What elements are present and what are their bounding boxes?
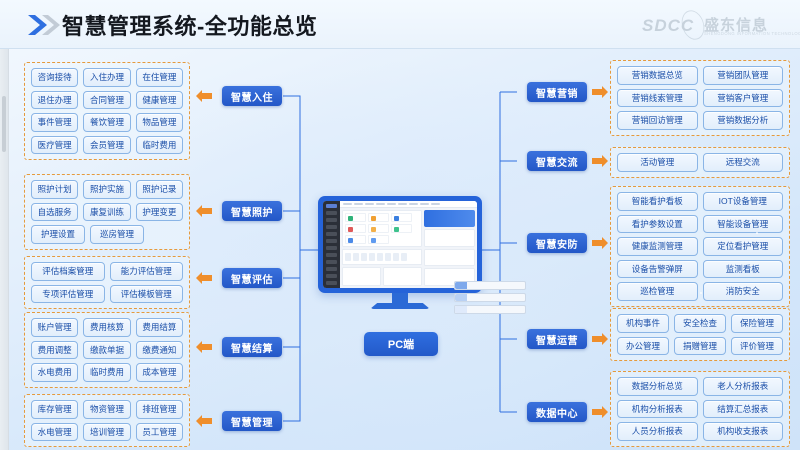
group-box-smart-checkin: 咨询接待 入住办理 在住管理 退住办理 合同管理 健康管理 事件管理 餐饮管理 … xyxy=(24,62,190,160)
arrow-left-icon xyxy=(196,89,212,103)
chip-row: 活动管理 远程交流 xyxy=(617,153,783,172)
group-box-smart-operations: 机构事件 安全检查 保险管理 办公管理 捐赠管理 评价管理 xyxy=(610,308,790,361)
chip-row: 评估档案管理 能力评估管理 xyxy=(31,262,183,281)
desktop-monitor-icon xyxy=(318,196,482,308)
chip-row: 人员分析报表 机构收支报表 xyxy=(617,422,783,441)
chip-item[interactable]: 成本管理 xyxy=(136,363,183,382)
chip-item[interactable]: 康复训练 xyxy=(83,203,130,222)
chip-item[interactable]: 水电费用 xyxy=(31,363,78,382)
group-box-smart-marketing: 营销数据总览 营销团队管理 营销线索管理 营销客户管理 营销回访管理 营销数据分… xyxy=(610,60,790,136)
chip-item[interactable]: 护理变更 xyxy=(136,203,183,222)
arrow-right-icon xyxy=(592,405,608,419)
sparkle-dot xyxy=(756,232,758,234)
arrow-right-icon xyxy=(592,236,608,250)
group-box-smart-assessment: 评估档案管理 能力评估管理 专项评估管理 评估模板管理 xyxy=(24,256,190,309)
chip-item[interactable]: 排班管理 xyxy=(136,400,183,419)
chip-item[interactable]: 机构事件 xyxy=(617,314,669,333)
chip-row: 费用调整 缴款单据 缴费通知 xyxy=(31,341,183,360)
chip-item[interactable]: 设备告警弹屏 xyxy=(617,260,698,279)
chip-row: 事件管理 餐饮管理 物品管理 xyxy=(31,113,183,132)
chip-row: 智能看护看板 IOT设备管理 xyxy=(617,192,783,211)
chip-row: 退住办理 合同管理 健康管理 xyxy=(31,91,183,110)
logo-subtitle: SHENGDONG INFORMATION TECHNOLOGY xyxy=(704,31,800,36)
double-chevron-right-icon xyxy=(26,13,62,37)
category-pill-smart-care[interactable]: 智慧照护 xyxy=(222,201,282,221)
chip-item[interactable]: 看护参数设置 xyxy=(617,215,698,234)
category-pill-smart-management[interactable]: 智慧管理 xyxy=(222,411,282,431)
chip-item[interactable]: 评估档案管理 xyxy=(31,262,105,281)
chip-item[interactable]: 自选服务 xyxy=(31,203,78,222)
chip-item[interactable]: IOT设备管理 xyxy=(703,192,784,211)
chip-row: 水电费用 临时费用 成本管理 xyxy=(31,363,183,382)
chip-item[interactable]: 监测看板 xyxy=(703,260,784,279)
arrow-left-icon xyxy=(196,414,212,428)
chip-row: 机构事件 安全检查 保险管理 xyxy=(617,314,783,333)
chip-item[interactable]: 数据分析总览 xyxy=(617,377,698,396)
logo-mark: SDCC xyxy=(642,16,694,36)
chip-row: 健康监测管理 定位看护管理 xyxy=(617,237,783,256)
group-box-smart-management: 库存管理 物资管理 排班管理 水电管理 培训管理 员工管理 xyxy=(24,394,190,447)
chip-row: 专项评估管理 评估模板管理 xyxy=(31,285,183,304)
monitor-frame xyxy=(318,196,482,293)
chip-row: 营销回访管理 营销数据分析 xyxy=(617,111,783,130)
chip-item[interactable]: 巡房管理 xyxy=(90,225,144,244)
arrow-right-icon xyxy=(592,332,608,346)
chip-item[interactable]: 照护计划 xyxy=(31,180,78,199)
chip-item[interactable]: 在住管理 xyxy=(136,68,183,87)
chip-item[interactable]: 结算汇总报表 xyxy=(703,400,784,419)
chip-item[interactable]: 培训管理 xyxy=(83,423,130,442)
sparkle-dot xyxy=(640,262,642,264)
sparkle-dot xyxy=(670,222,672,224)
dashboard-quick-icons xyxy=(342,249,422,265)
chip-item[interactable]: 缴费通知 xyxy=(136,341,183,360)
chip-item[interactable]: 缴款单据 xyxy=(83,341,130,360)
chip-row: 水电管理 培训管理 员工管理 xyxy=(31,423,183,442)
chip-row: 照护计划 照护实施 照护记录 xyxy=(31,180,183,199)
chip-item[interactable]: 退住办理 xyxy=(31,91,78,110)
category-pill-smart-checkin[interactable]: 智慧入住 xyxy=(222,86,282,106)
category-pill-data-center[interactable]: 数据中心 xyxy=(527,402,587,422)
chip-row: 营销线索管理 营销客户管理 xyxy=(617,89,783,108)
arrow-left-icon xyxy=(196,271,212,285)
dashboard-topbar xyxy=(340,201,477,208)
chip-item[interactable]: 捐赠管理 xyxy=(674,337,726,356)
chip-item[interactable]: 机构收支报表 xyxy=(703,422,784,441)
chip-item[interactable]: 费用调整 xyxy=(31,341,78,360)
chip-item[interactable]: 费用结算 xyxy=(136,318,183,337)
chip-row: 看护参数设置 智能设备管理 xyxy=(617,215,783,234)
chip-row: 机构分析报表 结算汇总报表 xyxy=(617,400,783,419)
dashboard-tiles xyxy=(342,210,422,247)
chip-item[interactable]: 活动管理 xyxy=(617,153,698,172)
group-box-smart-security: 智能看护看板 IOT设备管理 看护参数设置 智能设备管理 健康监测管理 定位看护… xyxy=(610,186,790,307)
book-stack-icon xyxy=(454,281,526,317)
chip-item[interactable]: 专项评估管理 xyxy=(31,285,105,304)
category-pill-smart-communication[interactable]: 智慧交流 xyxy=(527,151,587,171)
slide-canvas: 智慧管理系统-全功能总览 SDCC 盛东信息 SHENGDONG INFORMA… xyxy=(0,0,800,450)
page-title: 智慧管理系统-全功能总览 xyxy=(62,9,317,41)
chip-item[interactable]: 照护记录 xyxy=(136,180,183,199)
chip-item[interactable]: 营销团队管理 xyxy=(703,66,784,85)
header-bar: 智慧管理系统-全功能总览 SDCC 盛东信息 SHENGDONG INFORMA… xyxy=(0,0,800,49)
arrow-left-icon xyxy=(196,340,212,354)
arrow-right-icon xyxy=(592,154,608,168)
chip-item[interactable]: 办公管理 xyxy=(617,337,669,356)
chip-item[interactable]: 定位看护管理 xyxy=(703,237,784,256)
arrow-right-icon xyxy=(592,85,608,99)
chip-item[interactable]: 老人分析报表 xyxy=(703,377,784,396)
chip-item[interactable]: 营销数据总览 xyxy=(617,66,698,85)
group-box-smart-communication: 活动管理 远程交流 xyxy=(610,147,790,178)
chip-item[interactable]: 评价管理 xyxy=(731,337,783,356)
chip-item[interactable]: 保险管理 xyxy=(731,314,783,333)
chip-item[interactable]: 健康监测管理 xyxy=(617,237,698,256)
chip-item[interactable]: 合同管理 xyxy=(83,91,130,110)
chip-item[interactable]: 事件管理 xyxy=(31,113,78,132)
chip-item[interactable]: 巡检管理 xyxy=(617,282,698,301)
company-logo: SDCC 盛东信息 SHENGDONG INFORMATION TECHNOLO… xyxy=(642,10,792,42)
chip-item[interactable]: 餐饮管理 xyxy=(83,113,130,132)
chip-item[interactable]: 会员管理 xyxy=(83,136,130,155)
category-pill-smart-assessment[interactable]: 智慧评估 xyxy=(222,268,282,288)
chip-item[interactable]: 水电管理 xyxy=(31,423,78,442)
left-scrollbar-strip[interactable] xyxy=(0,0,9,450)
category-pill-smart-settlement[interactable]: 智慧结算 xyxy=(222,337,282,357)
chip-item[interactable]: 费用核算 xyxy=(83,318,130,337)
chip-row: 库存管理 物资管理 排班管理 xyxy=(31,400,183,419)
chip-row: 咨询接待 入住办理 在住管理 xyxy=(31,68,183,87)
device-label-pc[interactable]: PC端 xyxy=(364,332,438,356)
chip-item[interactable]: 员工管理 xyxy=(136,423,183,442)
group-box-data-center: 数据分析总览 老人分析报表 机构分析报表 结算汇总报表 人员分析报表 机构收支报… xyxy=(610,371,790,447)
chip-row: 数据分析总览 老人分析报表 xyxy=(617,377,783,396)
chip-item[interactable]: 账户管理 xyxy=(31,318,78,337)
category-pill-smart-operations[interactable]: 智慧运营 xyxy=(527,329,587,349)
chip-item[interactable]: 库存管理 xyxy=(31,400,78,419)
chip-item[interactable]: 物资管理 xyxy=(83,400,130,419)
chip-item[interactable]: 临时费用 xyxy=(83,363,130,382)
category-pill-smart-security[interactable]: 智慧安防 xyxy=(527,233,587,253)
chip-item[interactable]: 机构分析报表 xyxy=(617,400,698,419)
chip-item[interactable]: 物品管理 xyxy=(136,113,183,132)
chip-item[interactable]: 入住办理 xyxy=(83,68,130,87)
chip-item[interactable]: 临时费用 xyxy=(136,136,183,155)
category-pill-smart-marketing[interactable]: 智慧营销 xyxy=(527,82,587,102)
chip-item[interactable]: 照护实施 xyxy=(83,180,130,199)
chip-item[interactable]: 安全检查 xyxy=(674,314,726,333)
dashboard-screenshot xyxy=(323,201,477,288)
chip-item[interactable]: 智能看护看板 xyxy=(617,192,698,211)
chip-row: 自选服务 康复训练 护理变更 xyxy=(31,203,183,222)
scrollbar-thumb[interactable] xyxy=(2,96,6,152)
chip-item[interactable]: 智能设备管理 xyxy=(703,215,784,234)
dashboard-sidebar xyxy=(323,201,340,288)
arrow-left-icon xyxy=(196,204,212,218)
chip-item[interactable]: 评估模板管理 xyxy=(110,285,184,304)
chip-item[interactable]: 营销数据分析 xyxy=(703,111,784,130)
chip-row: 护理设置 巡房管理 xyxy=(31,225,183,244)
chip-row: 医疗管理 会员管理 临时费用 xyxy=(31,136,183,155)
chip-row: 办公管理 捐赠管理 评价管理 xyxy=(617,337,783,356)
sparkle-dot xyxy=(700,292,702,294)
chip-item[interactable]: 远程交流 xyxy=(703,153,784,172)
dashboard-banner xyxy=(424,210,475,227)
dashboard-charts xyxy=(342,267,422,286)
group-box-smart-care: 照护计划 照护实施 照护记录 自选服务 康复训练 护理变更 护理设置 巡房管理 xyxy=(24,174,190,250)
chip-item[interactable]: 营销客户管理 xyxy=(703,89,784,108)
monitor-base xyxy=(370,303,430,309)
chip-item[interactable]: 健康管理 xyxy=(136,91,183,110)
chip-item[interactable]: 医疗管理 xyxy=(31,136,78,155)
chip-row: 账户管理 费用核算 费用结算 xyxy=(31,318,183,337)
chip-row: 营销数据总览 营销团队管理 xyxy=(617,66,783,85)
chip-item[interactable]: 咨询接待 xyxy=(31,68,78,87)
chip-item[interactable]: 护理设置 xyxy=(31,225,85,244)
chip-item[interactable]: 营销线索管理 xyxy=(617,89,698,108)
chip-item[interactable]: 人员分析报表 xyxy=(617,422,698,441)
chip-item[interactable]: 能力评估管理 xyxy=(110,262,184,281)
chip-item[interactable]: 营销回访管理 xyxy=(617,111,698,130)
chip-item[interactable]: 消防安全 xyxy=(703,282,784,301)
group-box-smart-settlement: 账户管理 费用核算 费用结算 费用调整 缴款单据 缴费通知 水电费用 临时费用 … xyxy=(24,312,190,388)
